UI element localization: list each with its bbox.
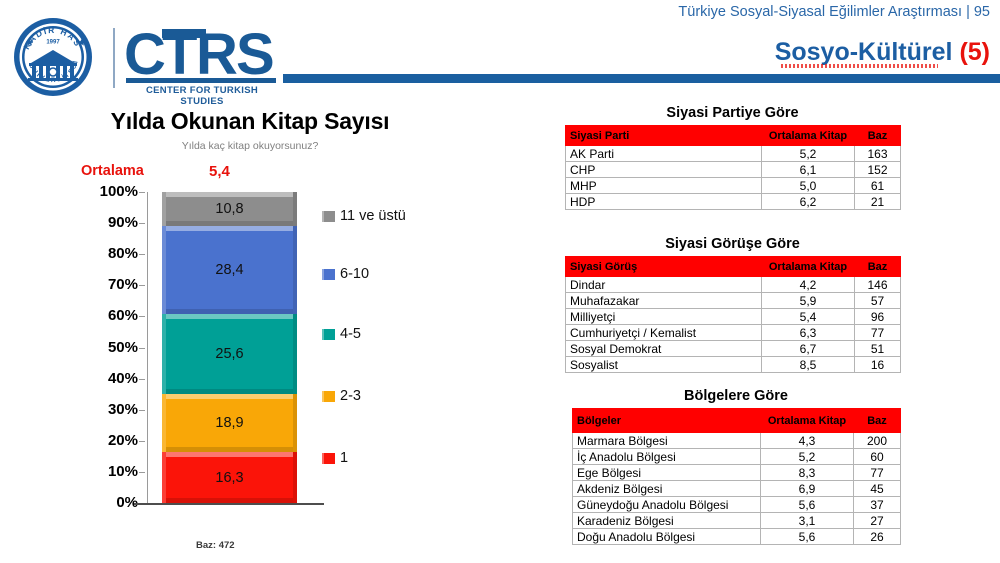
table-cell: 5,4 (762, 309, 855, 325)
legend-swatch (322, 211, 335, 222)
table-cell: 77 (855, 325, 901, 341)
bar-segment-value: 10,8 (166, 201, 293, 217)
table-cell: Muhafazakar (566, 293, 762, 309)
table-block-siyasi-gorus: Siyasi Görüşe Göre Siyasi GörüşOrtalama … (565, 236, 900, 373)
table-cell: Güneydoğu Anadolu Bölgesi (573, 497, 761, 513)
table-bolgeler: BölgelerOrtalama KitapBazMarmara Bölgesi… (572, 408, 901, 545)
table-row: CHP6,1152 (566, 162, 901, 178)
section-number: (5) (959, 38, 990, 66)
y-axis-tick-label: 0% (92, 498, 138, 508)
table-cell: 4,2 (762, 277, 855, 293)
legend-label: 11 ve üstü (340, 208, 406, 224)
legend-label: 2-3 (340, 388, 361, 404)
table-cell: 152 (855, 162, 901, 178)
table-column-header: Baz (855, 126, 901, 146)
kadir-has-university-logo: KADİR HAS ÜNİVERSİTESİ 1997 (13, 17, 93, 97)
table-cell: HDP (566, 194, 762, 210)
table-cell: 4,3 (761, 433, 854, 449)
table-header-row: BölgelerOrtalama KitapBaz (573, 409, 901, 433)
average-value: 5,4 (209, 163, 230, 180)
legend-swatch (322, 391, 335, 402)
legend-item[interactable]: 2-3 (322, 388, 361, 404)
table-row: Sosyalist8,516 (566, 357, 901, 373)
table-cell: 8,5 (762, 357, 855, 373)
table-column-header: Ortalama Kitap (762, 126, 855, 146)
spellcheck-underline (781, 64, 938, 68)
y-axis-tick-label: 40% (92, 374, 138, 384)
table-header-row: Siyasi GörüşOrtalama KitapBaz (566, 257, 901, 277)
page-header: KADİR HAS ÜNİVERSİTESİ 1997 C T R S (0, 0, 1000, 100)
section-title: Sosyo-Kültürel (5) (775, 38, 990, 67)
table-cell: 77 (854, 465, 901, 481)
table-row: Sosyal Demokrat6,751 (566, 341, 901, 357)
svg-text:1997: 1997 (46, 40, 60, 46)
y-axis-tick-label: 30% (92, 405, 138, 415)
table-cell: Cumhuriyetçi / Kemalist (566, 325, 762, 341)
logo-divider (113, 28, 115, 88)
table-cell: 6,3 (762, 325, 855, 341)
table-cell: Doğu Anadolu Bölgesi (573, 529, 761, 545)
table-cell: 6,2 (762, 194, 855, 210)
table-cell: 8,3 (761, 465, 854, 481)
section-title-text: Sosyo-Kültürel (775, 38, 953, 66)
table-cell: 21 (855, 194, 901, 210)
table-cell: Milliyetçi (566, 309, 762, 325)
legend-swatch (322, 329, 335, 340)
table-column-header: Ortalama Kitap (761, 409, 854, 433)
table-cell: 5,2 (762, 146, 855, 162)
chart-plot-area: 100%90%80%70%60%50%40%30%20%10%0% 10,828… (96, 192, 336, 522)
base-note: Baz: 472 (196, 540, 235, 551)
table-cell: Sosyalist (566, 357, 762, 373)
y-axis-tick-mark (139, 192, 145, 193)
table-cell: 5,6 (761, 497, 854, 513)
header-rule (283, 74, 1000, 83)
table-cell: 5,6 (761, 529, 854, 545)
x-axis-line (134, 503, 324, 505)
legend-label: 4-5 (340, 326, 361, 342)
legend-label: 6-10 (340, 266, 369, 282)
table-column-header: Ortalama Kitap (762, 257, 855, 277)
table-cell: 5,0 (762, 178, 855, 194)
chart-title: Yılda Okunan Kitap Sayısı (0, 108, 500, 135)
average-label: Ortalama (81, 163, 144, 179)
y-axis-tick-label: 10% (92, 467, 138, 477)
table-block-siyasi-parti: Siyasi Partiye Göre Siyasi PartiOrtalama… (565, 105, 900, 210)
table-cell: 60 (854, 449, 901, 465)
bar-segment-1: 16,3 (162, 452, 297, 503)
table-column-header: Baz (854, 409, 901, 433)
y-axis-tick-mark (139, 348, 145, 349)
y-axis-line (147, 192, 148, 503)
table-header-row: Siyasi PartiOrtalama KitapBaz (566, 126, 901, 146)
table-row: HDP6,221 (566, 194, 901, 210)
bar-segment-2-3: 18,9 (162, 394, 297, 453)
table-row: MHP5,061 (566, 178, 901, 194)
table-row: Akdeniz Bölgesi6,945 (573, 481, 901, 497)
y-axis-tick-mark (139, 285, 145, 286)
bar-segment-6-10: 28,4 (162, 226, 297, 314)
stacked-bar: 10,828,425,618,916,3 (162, 192, 297, 503)
table-cell: 51 (855, 341, 901, 357)
table-column-header: Siyasi Parti (566, 126, 762, 146)
table-cell: 6,9 (761, 481, 854, 497)
table-cell: CHP (566, 162, 762, 178)
table-cell: Ege Bölgesi (573, 465, 761, 481)
svg-text:C: C (126, 22, 165, 87)
table-cell: 6,1 (762, 162, 855, 178)
table-cell: 3,1 (761, 513, 854, 529)
table-column-header: Siyasi Görüş (566, 257, 762, 277)
table-cell: 37 (854, 497, 901, 513)
table-siyasi-gorus: Siyasi GörüşOrtalama KitapBazDindar4,214… (565, 256, 901, 373)
bar-segment-value: 28,4 (166, 262, 293, 278)
y-axis-tick-label: 60% (92, 311, 138, 321)
chart-subtitle: Yılda kaç kitap okuyorsunuz? (0, 140, 500, 152)
table-column-header: Baz (855, 257, 901, 277)
table-cell: 57 (855, 293, 901, 309)
table-cell: 26 (854, 529, 901, 545)
y-axis-tick-label: 20% (92, 436, 138, 446)
table-cell: AK Parti (566, 146, 762, 162)
bar-segment-value: 16,3 (166, 470, 293, 486)
y-axis-tick-label: 100% (92, 187, 138, 197)
legend-swatch (322, 453, 335, 464)
table-cell: 5,9 (762, 293, 855, 309)
y-axis-tick-label: 90% (92, 218, 138, 228)
table-cell: 45 (854, 481, 901, 497)
table-row: Ege Bölgesi8,377 (573, 465, 901, 481)
y-axis-tick-mark (139, 472, 145, 473)
table-cell: 16 (855, 357, 901, 373)
table-cell: 6,7 (762, 341, 855, 357)
legend-item[interactable]: 6-10 (322, 266, 369, 282)
table-cell: 96 (855, 309, 901, 325)
bar-segment-value: 25,6 (166, 346, 293, 362)
table-cell: 61 (855, 178, 901, 194)
bar-segment-11-ve-üstü: 10,8 (162, 192, 297, 226)
table-cell: 5,2 (761, 449, 854, 465)
table-row: AK Parti5,2163 (566, 146, 901, 162)
table-cell: MHP (566, 178, 762, 194)
y-axis-tick-mark (139, 410, 145, 411)
y-axis-tick-mark (139, 254, 145, 255)
table-row: Dindar4,2146 (566, 277, 901, 293)
table-cell: 27 (854, 513, 901, 529)
bar-segment-4-5: 25,6 (162, 314, 297, 394)
table-row: Cumhuriyetçi / Kemalist6,377 (566, 325, 901, 341)
table-row: Milliyetçi5,496 (566, 309, 901, 325)
table-row: Muhafazakar5,957 (566, 293, 901, 309)
table-row: Güneydoğu Anadolu Bölgesi5,637 (573, 497, 901, 513)
chart-panel: Yılda Okunan Kitap Sayısı Yılda kaç kita… (0, 100, 540, 563)
y-axis: 100%90%80%70%60%50%40%30%20%10%0% (96, 192, 148, 502)
legend-item[interactable]: 4-5 (322, 326, 361, 342)
table-cell: Sosyal Demokrat (566, 341, 762, 357)
table-title: Siyasi Partiye Göre (565, 105, 900, 121)
table-cell: Karadeniz Bölgesi (573, 513, 761, 529)
table-cell: Akdeniz Bölgesi (573, 481, 761, 497)
y-axis-tick-mark (139, 223, 145, 224)
y-axis-tick-label: 70% (92, 280, 138, 290)
legend-label: 1 (340, 450, 348, 466)
y-axis-tick-label: 80% (92, 249, 138, 259)
table-cell: Dindar (566, 277, 762, 293)
legend-swatch (322, 269, 335, 280)
svg-text:S: S (236, 22, 273, 87)
table-title: Siyasi Görüşe Göre (565, 236, 900, 252)
table-cell: 200 (854, 433, 901, 449)
y-axis-tick-mark (139, 379, 145, 380)
table-row: Doğu Anadolu Bölgesi5,626 (573, 529, 901, 545)
legend-item[interactable]: 11 ve üstü (322, 208, 406, 224)
table-title: Bölgelere Göre (572, 388, 900, 404)
legend-item[interactable]: 1 (322, 450, 348, 466)
bar-segment-value: 18,9 (166, 415, 293, 431)
table-row: Karadeniz Bölgesi3,127 (573, 513, 901, 529)
table-cell: İç Anadolu Bölgesi (573, 449, 761, 465)
table-cell: Marmara Bölgesi (573, 433, 761, 449)
ctrs-logo: C T R S (126, 22, 276, 94)
y-axis-tick-mark (139, 316, 145, 317)
survey-title: Türkiye Sosyal-Siyasal Eğilimler Araştır… (678, 4, 990, 20)
y-axis-tick-label: 50% (92, 343, 138, 353)
table-cell: 146 (855, 277, 901, 293)
table-cell: 163 (855, 146, 901, 162)
table-siyasi-parti: Siyasi PartiOrtalama KitapBazAK Parti5,2… (565, 125, 901, 210)
table-column-header: Bölgeler (573, 409, 761, 433)
table-block-bolgeler: Bölgelere Göre BölgelerOrtalama KitapBaz… (572, 388, 900, 545)
y-axis-tick-mark (139, 441, 145, 442)
table-row: İç Anadolu Bölgesi5,260 (573, 449, 901, 465)
table-row: Marmara Bölgesi4,3200 (573, 433, 901, 449)
